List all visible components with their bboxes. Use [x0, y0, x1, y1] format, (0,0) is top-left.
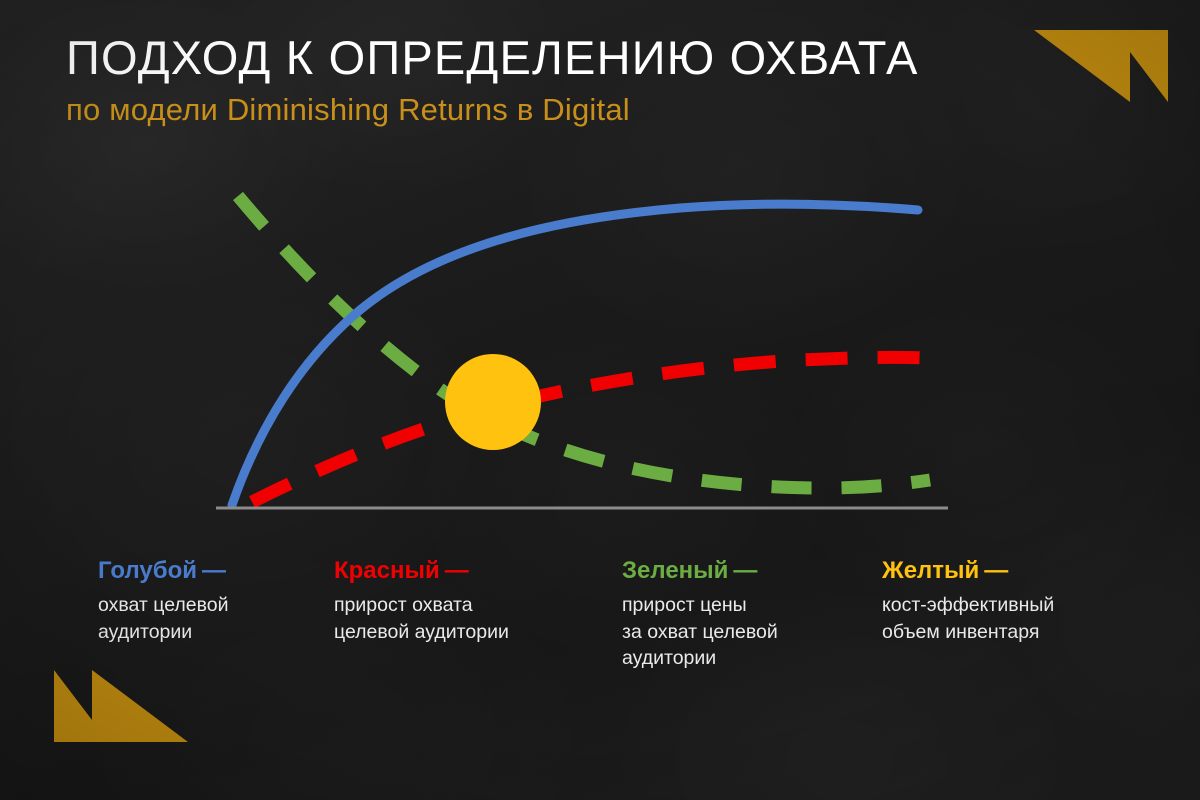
legend-item-yellow[interactable]: Желтый— кост-эффективный объем инвентаря [882, 558, 1054, 645]
infographic-slide: ПОДХОД К ОПРЕДЕЛЕНИЮ ОХВАТА по модели Di… [0, 0, 1200, 800]
legend-item-green[interactable]: Зеленый— прирост цены за охват целевой а… [622, 558, 778, 671]
gold-arrow-mark-icon-top-right [1026, 22, 1176, 110]
legend-label-yellow: Желтый [882, 557, 979, 584]
legend-dash-yellow: — [984, 557, 1008, 584]
legend-item-red[interactable]: Красный— прирост охвата целевой аудитори… [334, 558, 509, 645]
legend-dash-green: — [733, 557, 757, 584]
legend-title-blue: Голубой— [98, 558, 229, 584]
page-subtitle: по модели Diminishing Returns в Digital [66, 94, 919, 127]
legend-label-red: Красный [334, 557, 440, 584]
legend-desc-yellow: кост-эффективный объем инвентаря [882, 592, 1054, 644]
legend-desc-blue: охват целевой аудитории [98, 592, 229, 644]
legend-item-blue[interactable]: Голубой— охват целевой аудитории [98, 558, 229, 645]
subtitle-text: по модели Diminishing Returns в Digital [66, 92, 630, 127]
legend-title-red: Красный— [334, 558, 509, 584]
legend-title-yellow: Желтый— [882, 558, 1054, 584]
header: ПОДХОД К ОПРЕДЕЛЕНИЮ ОХВАТА по модели Di… [66, 34, 919, 126]
page-title: ПОДХОД К ОПРЕДЕЛЕНИЮ ОХВАТА [66, 34, 919, 83]
legend-label-green: Зеленый [622, 557, 728, 584]
legend: Голубой— охват целевой аудитории Красный… [0, 558, 1200, 718]
legend-dash-red: — [445, 557, 469, 584]
legend-dash-blue: — [202, 557, 226, 584]
legend-title-green: Зеленый— [622, 558, 778, 584]
legend-desc-green: прирост цены за охват целевой аудитории [622, 592, 778, 670]
legend-desc-red: прирост охвата целевой аудитории [334, 592, 509, 644]
legend-label-blue: Голубой [98, 557, 197, 584]
